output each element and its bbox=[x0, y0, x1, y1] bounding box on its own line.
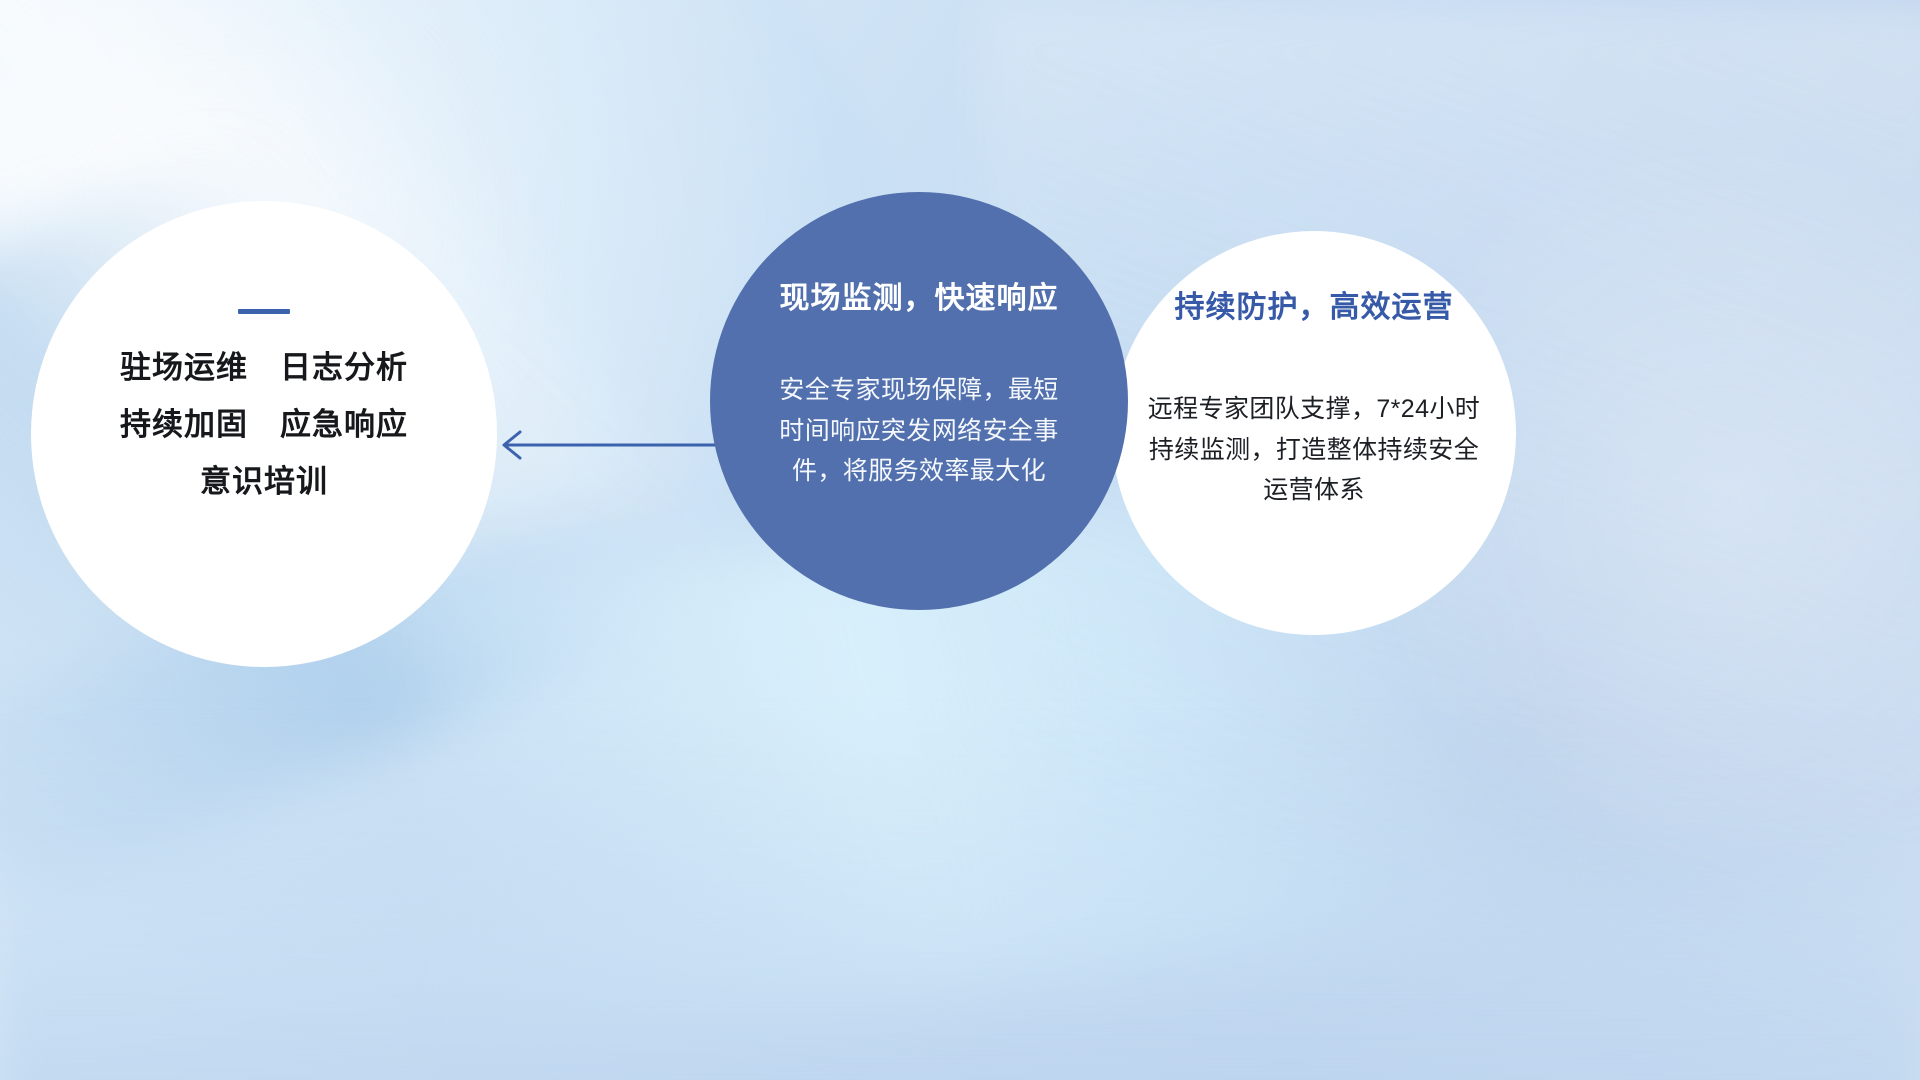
capability-line-1: 驻场运维 日志分析 bbox=[120, 352, 408, 383]
capability-list: 驻场运维 日志分析 持续加固 应急响应 意识培训 bbox=[120, 352, 408, 497]
capability-card-right[interactable]: 持续防护，高效运营 远程专家团队支撑，7*24小时持续监测，打造整体持续安全运营… bbox=[1112, 231, 1516, 635]
right-card-body: 远程专家团队支撑，7*24小时持续监测，打造整体持续安全运营体系 bbox=[1138, 389, 1490, 511]
capability-line-2: 持续加固 应急响应 bbox=[120, 409, 408, 440]
capability-line-3: 意识培训 bbox=[200, 466, 328, 497]
capability-card-left[interactable]: 驻场运维 日志分析 持续加固 应急响应 意识培训 bbox=[31, 201, 497, 667]
slide-canvas: 驻场运维 日志分析 持续加固 应急响应 意识培训 现场监测，快速响应 安全专家现… bbox=[0, 0, 1920, 1080]
middle-card-body: 安全专家现场保障，最短时间响应突发网络安全事件，将服务效率最大化 bbox=[769, 370, 1069, 492]
left-arrow-icon bbox=[480, 400, 740, 490]
capability-card-middle[interactable]: 现场监测，快速响应 安全专家现场保障，最短时间响应突发网络安全事件，将服务效率最… bbox=[710, 192, 1128, 610]
horizontal-dash-icon bbox=[238, 309, 290, 314]
right-card-title: 持续防护，高效运营 bbox=[1175, 293, 1454, 323]
middle-card-title: 现场监测，快速响应 bbox=[780, 284, 1059, 314]
